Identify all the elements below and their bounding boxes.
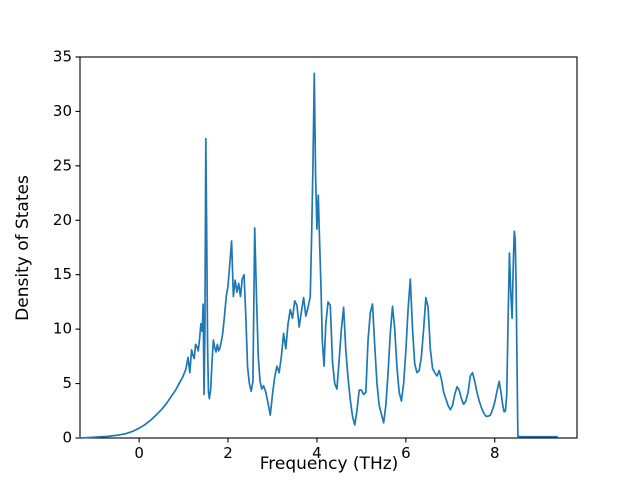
x-tick-label: 8 — [490, 444, 500, 462]
y-tick-label: 15 — [53, 265, 72, 283]
y-axis-label: Density of States — [13, 175, 33, 321]
dos-plot: 02468 05101520253035 Frequency (THz) Den… — [0, 0, 640, 480]
y-tick-label: 25 — [53, 156, 72, 174]
y-tick-label: 30 — [53, 102, 72, 120]
figure-canvas: 02468 05101520253035 Frequency (THz) Den… — [0, 0, 640, 480]
x-tick-label: 6 — [401, 444, 411, 462]
x-tick-label: 2 — [223, 444, 233, 462]
y-tick-label: 35 — [53, 48, 72, 66]
x-tick-label: 0 — [134, 444, 144, 462]
y-tick-label: 10 — [53, 320, 72, 338]
y-tick-label: 20 — [53, 211, 72, 229]
y-tick-label: 0 — [62, 429, 72, 447]
y-tick-label: 5 — [62, 374, 72, 392]
x-axis-label: Frequency (THz) — [260, 454, 399, 474]
